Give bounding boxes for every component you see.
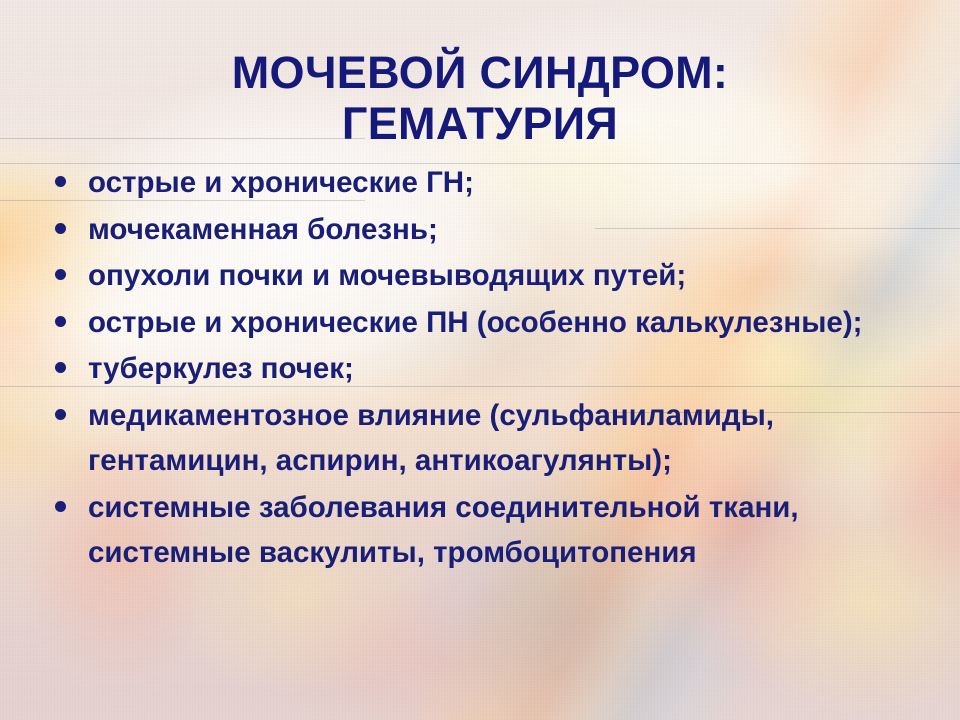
list-item-label: острые и хронические ГН; bbox=[88, 160, 920, 206]
list-item: туберкулез почек; bbox=[40, 346, 920, 392]
bullet-dot-icon bbox=[55, 316, 66, 327]
list-item-label: медикаментозное влияние (сульфаниламиды,… bbox=[88, 393, 920, 484]
list-item: системные заболевания соединительной тка… bbox=[40, 485, 920, 576]
bullet-list: острые и хронические ГН; мочекаменная бо… bbox=[40, 160, 920, 577]
bullet-dot-icon bbox=[55, 362, 66, 373]
list-item: медикаментозное влияние (сульфаниламиды,… bbox=[40, 393, 920, 484]
slide-canvas: МОЧЕВОЙ СИНДРОМ: ГЕМАТУРИЯ острые и хрон… bbox=[0, 0, 960, 720]
bullet-dot-icon bbox=[55, 176, 66, 187]
list-item-label: острые и хронические ПН (особенно кальку… bbox=[88, 300, 920, 346]
bullet-dot-icon bbox=[55, 409, 66, 420]
list-item: опухоли почки и мочевыводящих путей; bbox=[40, 253, 920, 299]
list-item: острые и хронические ПН (особенно кальку… bbox=[40, 300, 920, 346]
bullet-dot-icon bbox=[55, 269, 66, 280]
bullet-dot-icon bbox=[55, 223, 66, 234]
slide-content: МОЧЕВОЙ СИНДРОМ: ГЕМАТУРИЯ острые и хрон… bbox=[0, 0, 960, 720]
list-item-label: системные заболевания соединительной тка… bbox=[88, 485, 920, 576]
slide-title: МОЧЕВОЙ СИНДРОМ: ГЕМАТУРИЯ bbox=[40, 48, 920, 149]
list-item: острые и хронические ГН; bbox=[40, 160, 920, 206]
list-item-label: мочекаменная болезнь; bbox=[88, 207, 920, 253]
list-item-label: опухоли почки и мочевыводящих путей; bbox=[88, 253, 920, 299]
list-item-label: туберкулез почек; bbox=[88, 346, 920, 392]
bullet-dot-icon bbox=[55, 501, 66, 512]
list-item: мочекаменная болезнь; bbox=[40, 207, 920, 253]
